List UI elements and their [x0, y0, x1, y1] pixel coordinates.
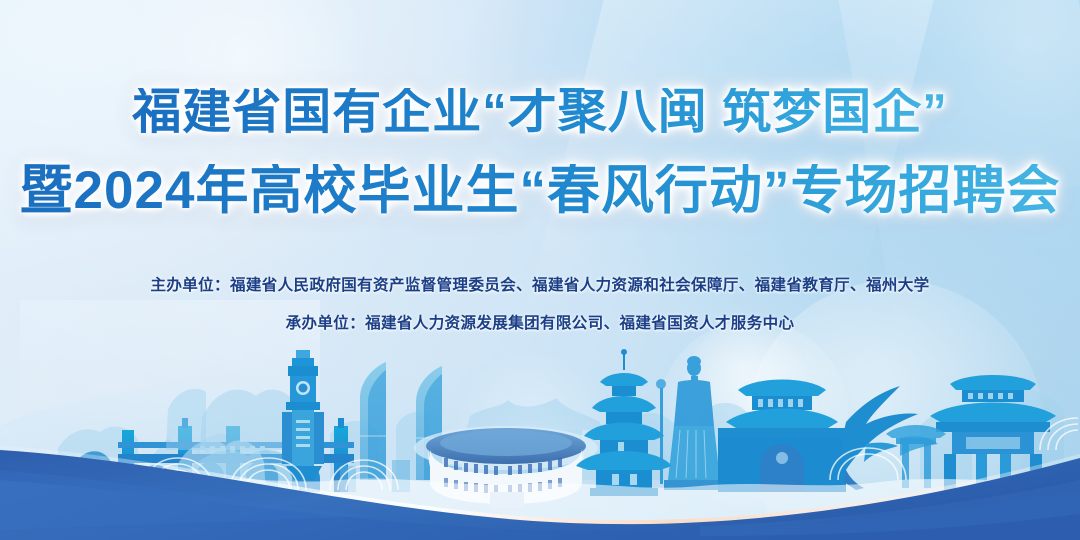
recruitment-banner: 福建省国有企业“才聚八闽 筑梦国企” 暨2024年高校毕业生“春风行动”专场招聘… — [0, 0, 1080, 540]
banner-title-line-2-text: 暨2024年高校毕业生“春风行动”专场招聘会 — [20, 164, 1061, 217]
banner-title-line-2: 暨2024年高校毕业生“春风行动”专场招聘会 — [0, 164, 1080, 217]
city-skyline-illustration — [0, 330, 1080, 540]
banner-title-line-1-text: 福建省国有企业“才聚八闽 筑梦国企” — [132, 88, 948, 137]
banner-title-line-1: 福建省国有企业“才聚八闽 筑梦国企” — [0, 88, 1080, 137]
co-organizer-line: 承办单位：福建省人力资源发展集团有限公司、福建省国资人才服务中心 — [0, 311, 1080, 333]
organizer-line: 主办单位：福建省人民政府国有资产监督管理委员会、福建省人力资源和社会保障厅、福建… — [0, 273, 1080, 295]
